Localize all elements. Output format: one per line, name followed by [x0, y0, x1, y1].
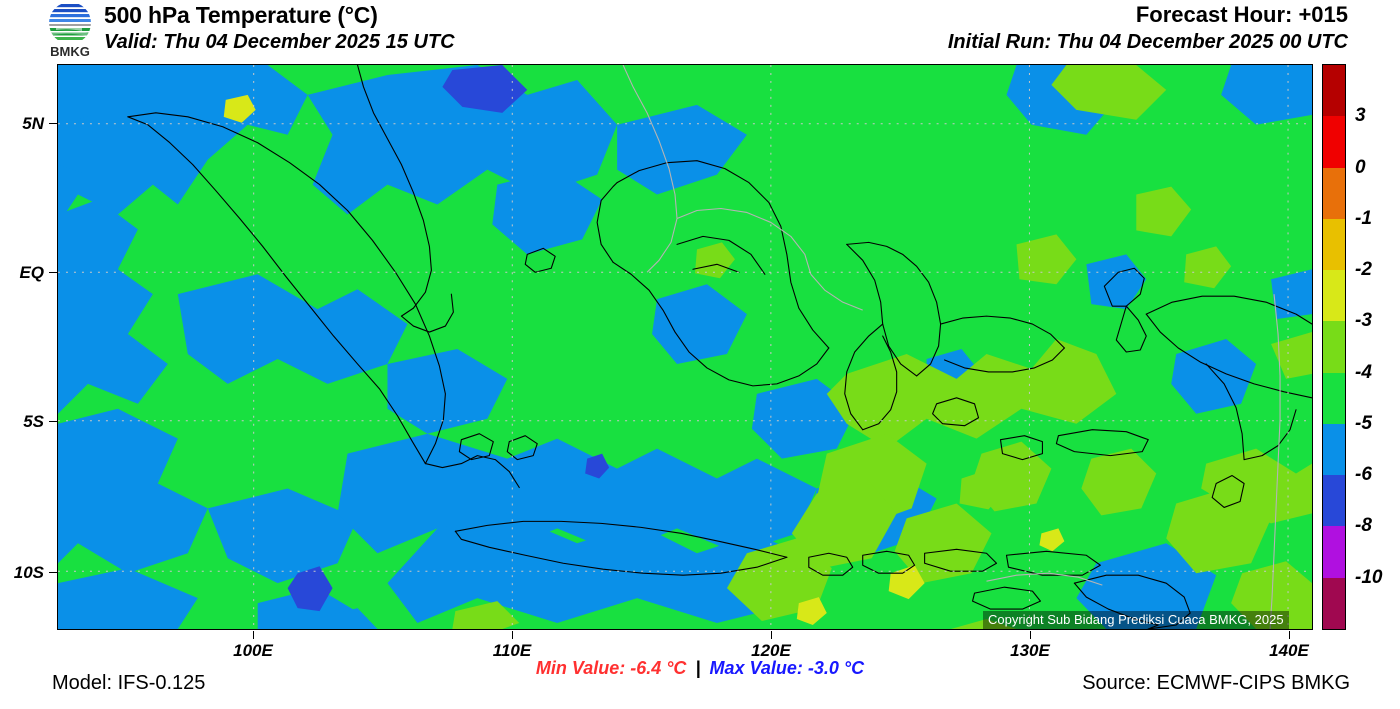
xtick-mark-130e [1030, 631, 1031, 639]
ytick-label-10s: 10S [2, 563, 44, 583]
valid-time-label: Valid: Thu 04 December 2025 15 UTC [104, 31, 455, 54]
bmkg-logo-icon: BMKG [38, 1, 102, 59]
temperature-colorbar [1322, 64, 1346, 630]
ytick-mark-10s [49, 572, 57, 573]
initial-run-label: Initial Run: Thu 04 December 2025 00 UTC [948, 31, 1348, 54]
colorbar-label-neg5: -5 [1355, 413, 1372, 435]
colorbar-label-3: 3 [1355, 105, 1366, 127]
colorbar-label-neg10: -10 [1355, 567, 1382, 589]
colorbar-band-2 [1323, 168, 1345, 219]
colorbar-label-neg1: -1 [1355, 208, 1372, 230]
header-left: BMKG 500 hPa Temperature (°C) Valid: Thu… [38, 0, 798, 60]
xtick-mark-120e [771, 631, 772, 639]
colorbar-label-neg8: -8 [1355, 515, 1372, 537]
ytick-mark-5s [49, 421, 57, 422]
colorbar-label-neg2: -2 [1355, 259, 1372, 281]
forecast-map-page: BMKG 500 hPa Temperature (°C) Valid: Thu… [0, 0, 1400, 709]
colorbar-band-4 [1323, 270, 1345, 321]
colorbar-band-1 [1323, 116, 1345, 167]
colorbar-band-0 [1323, 65, 1345, 116]
copyright-watermark: Copyright Sub Bidang Prediksi Cuaca BMKG… [983, 611, 1289, 629]
xtick-mark-110e [512, 631, 513, 639]
colorbar-band-10 [1323, 578, 1345, 629]
ytick-mark-eq [49, 272, 57, 273]
colorbar-band-8 [1323, 475, 1345, 526]
map-raster [58, 65, 1312, 629]
colorbar-label-neg6: -6 [1355, 464, 1372, 486]
colorbar-band-7 [1323, 424, 1345, 475]
colorbar-band-5 [1323, 321, 1345, 372]
colorbar-label-neg3: -3 [1355, 310, 1372, 332]
minmax-row: Min Value: -6.4 °C | Max Value: -3.0 °C [0, 658, 1400, 679]
xtick-mark-100e [253, 631, 254, 639]
page-title: 500 hPa Temperature (°C) [104, 2, 378, 29]
max-value-label: Max Value: -3.0 °C [710, 658, 865, 678]
colorbar-label-neg4: -4 [1355, 362, 1372, 384]
colorbar-band-3 [1323, 219, 1345, 270]
ytick-label-5n: 5N [10, 114, 44, 134]
ytick-label-5s: 5S [10, 412, 44, 432]
forecast-hour-label: Forecast Hour: +015 [1136, 2, 1348, 28]
svg-text:BMKG: BMKG [50, 44, 90, 59]
xtick-mark-140e [1289, 631, 1290, 639]
temperature-map-plot [57, 64, 1313, 630]
min-value-label: Min Value: -6.4 °C [536, 658, 687, 678]
ytick-label-eq: EQ [10, 263, 44, 283]
colorbar-band-9 [1323, 526, 1345, 577]
colorbar-label-0: 0 [1355, 157, 1366, 179]
ytick-mark-5n [49, 123, 57, 124]
colorbar-band-6 [1323, 373, 1345, 424]
minmax-separator: | [691, 658, 704, 678]
